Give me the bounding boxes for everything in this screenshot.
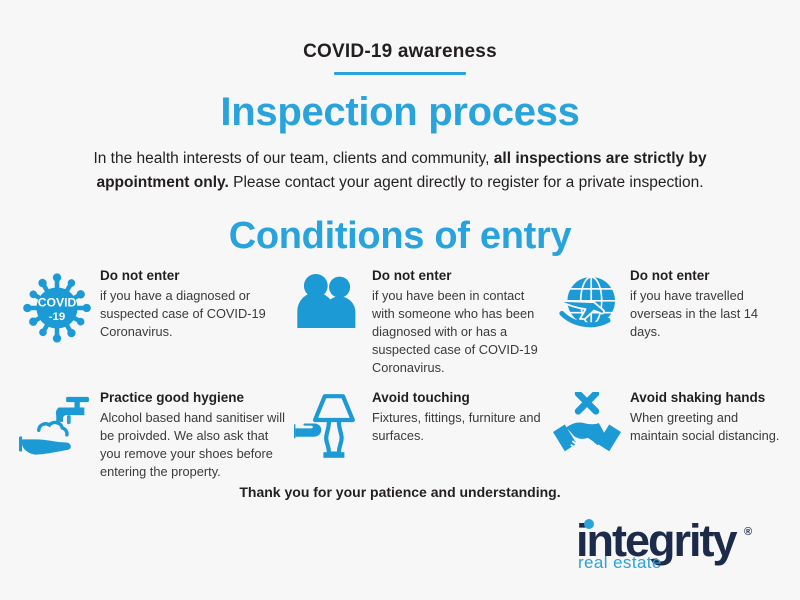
conditions-heading: Conditions of entry bbox=[0, 217, 800, 257]
condition-text: Do not enter if you have a diagnosed or … bbox=[100, 268, 286, 341]
condition-item: Avoid shaking hands When greeting and ma… bbox=[544, 390, 786, 481]
globe-airplane-icon bbox=[544, 268, 630, 340]
intro-paragraph: In the health interests of our team, cli… bbox=[50, 147, 750, 195]
logo-i-dot bbox=[584, 519, 594, 529]
page-title: Inspection process bbox=[0, 91, 800, 133]
condition-text: Do not enter if you have been in contact… bbox=[372, 268, 544, 376]
condition-body: if you have been in contact with someone… bbox=[372, 287, 544, 377]
condition-title: Avoid shaking hands bbox=[630, 390, 786, 407]
conditions-grid: COVID -19 Do not enter if you have a dia… bbox=[14, 268, 786, 481]
intro-text-part2: Please contact your agent directly to re… bbox=[229, 174, 704, 191]
logo-tagline: real estate bbox=[578, 554, 662, 571]
condition-body: When greeting and maintain social distan… bbox=[630, 409, 786, 445]
kicker-underline-divider bbox=[334, 72, 466, 75]
registered-trademark-icon: ® bbox=[744, 526, 752, 538]
covid-virus-icon: COVID -19 bbox=[14, 268, 100, 346]
condition-text: Avoid touching Fixtures, fittings, furni… bbox=[372, 390, 544, 445]
no-handshake-icon bbox=[544, 390, 630, 466]
condition-item: Avoid touching Fixtures, fittings, furni… bbox=[286, 390, 544, 481]
kicker-heading: COVID-19 awareness bbox=[0, 0, 800, 63]
condition-item: COVID -19 Do not enter if you have a dia… bbox=[14, 268, 286, 376]
two-people-icon bbox=[286, 268, 372, 332]
condition-text: Do not enter if you have travelled overs… bbox=[630, 268, 786, 341]
condition-text: Practice good hygiene Alcohol based hand… bbox=[100, 390, 286, 481]
condition-title: Do not enter bbox=[372, 268, 544, 285]
thank-you-text: Thank you for your patience and understa… bbox=[0, 484, 800, 500]
condition-body: Alcohol based hand sanitiser will be pro… bbox=[100, 409, 286, 481]
condition-title: Avoid touching bbox=[372, 390, 544, 407]
condition-item: Practice good hygiene Alcohol based hand… bbox=[14, 390, 286, 481]
condition-title: Practice good hygiene bbox=[100, 390, 286, 407]
condition-text: Avoid shaking hands When greeting and ma… bbox=[630, 390, 786, 445]
integrity-real-estate-logo: integrity real estate ® bbox=[568, 512, 778, 580]
covid-awareness-poster: COVID-19 awareness Inspection process In… bbox=[0, 0, 800, 600]
condition-body: Fixtures, fittings, furniture and surfac… bbox=[372, 409, 544, 445]
cross-icon bbox=[578, 394, 596, 412]
lamp-pointing-hand-icon bbox=[286, 390, 372, 462]
handwash-tap-icon bbox=[14, 390, 100, 464]
intro-text-part1: In the health interests of our team, cli… bbox=[93, 150, 493, 167]
covid-icon-label-bottom: -19 bbox=[49, 311, 65, 323]
covid-icon-label-top: COVID bbox=[38, 295, 77, 309]
condition-title: Do not enter bbox=[630, 268, 786, 285]
condition-item: Do not enter if you have been in contact… bbox=[286, 268, 544, 376]
condition-item: Do not enter if you have travelled overs… bbox=[544, 268, 786, 376]
condition-body: if you have a diagnosed or suspected cas… bbox=[100, 287, 286, 341]
conditions-row: COVID -19 Do not enter if you have a dia… bbox=[14, 268, 786, 376]
conditions-row: Practice good hygiene Alcohol based hand… bbox=[14, 390, 786, 481]
condition-body: if you have travelled overseas in the la… bbox=[630, 287, 786, 341]
condition-title: Do not enter bbox=[100, 268, 286, 285]
